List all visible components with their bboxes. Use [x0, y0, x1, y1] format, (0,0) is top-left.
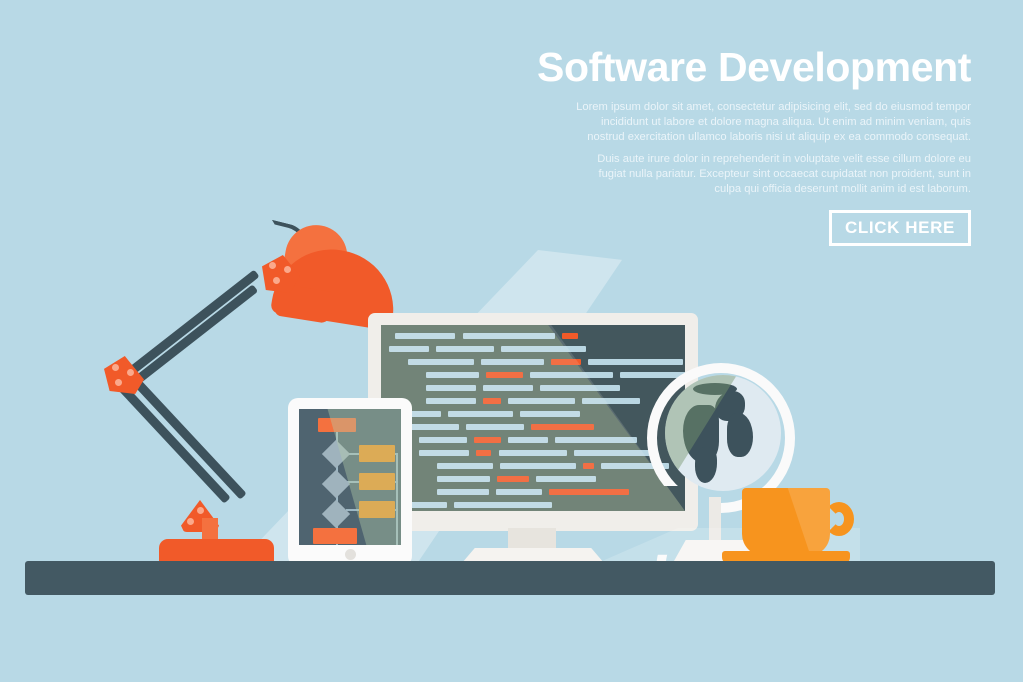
- body-paragraph-2: Duis aute irure dolor in reprehenderit i…: [571, 152, 971, 198]
- illustration-banner: Software Development Lorem ipsum dolor s…: [0, 0, 1023, 682]
- code-line-segment: [588, 359, 683, 365]
- lamp-base: [159, 539, 274, 563]
- lamp-arm-upper-b: [125, 284, 258, 391]
- decision-2: [322, 470, 350, 498]
- monitor-screen[interactable]: [381, 325, 685, 511]
- cup-shadow: [742, 488, 830, 556]
- flow-connector: [336, 544, 338, 545]
- lamp-arm-upper-a: [128, 269, 260, 375]
- click-here-button[interactable]: CLICK HERE: [829, 210, 971, 246]
- lamp-arm-lower-a: [116, 382, 230, 504]
- process-box: [313, 528, 357, 544]
- tablet-home-button[interactable]: [345, 549, 356, 560]
- tablet-light-overlay: [299, 409, 401, 545]
- code-line-segment: [562, 333, 578, 339]
- lamp-arm-lower-b: [132, 378, 246, 500]
- coffee-cup: [742, 488, 830, 556]
- decision-3: [322, 500, 350, 528]
- page-title: Software Development: [537, 46, 971, 89]
- tablet-screen[interactable]: [299, 409, 401, 545]
- desk-surface: [25, 561, 995, 595]
- body-paragraph-1: Lorem ipsum dolor sit amet, consectetur …: [571, 100, 971, 146]
